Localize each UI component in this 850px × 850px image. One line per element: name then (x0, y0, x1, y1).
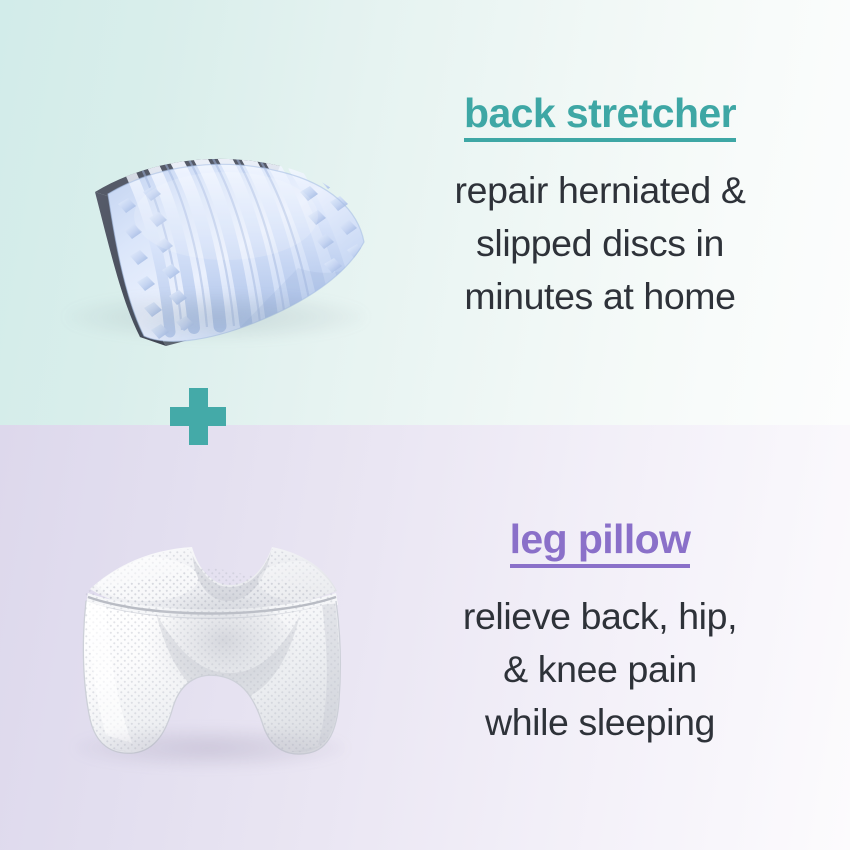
product-shadow (74, 727, 346, 769)
description-line-2: slipped discs in (400, 217, 800, 270)
back-stretcher-section: back stretcher repair herniated & slippe… (0, 0, 850, 425)
description-line-1: relieve back, hip, (400, 590, 800, 643)
product-shadow (66, 293, 366, 341)
back-stretcher-description: repair herniated & slipped discs in minu… (400, 164, 800, 323)
description-line-3: minutes at home (400, 270, 800, 323)
plus-icon (170, 388, 226, 445)
leg-pillow-headline: leg pillow (510, 518, 691, 568)
leg-pillow-product-image (60, 505, 360, 773)
back-stretcher-headline: back stretcher (464, 92, 736, 142)
description-line-1: repair herniated & (400, 164, 800, 217)
description-line-3: while sleeping (400, 696, 800, 749)
leg-pillow-section: leg pillow relieve back, hip, & knee pai… (0, 425, 850, 850)
plus-icon-vertical-bar (189, 388, 208, 445)
back-stretcher-product-image (48, 88, 378, 350)
leg-pillow-description: relieve back, hip, & knee pain while sle… (400, 590, 800, 749)
description-line-2: & knee pain (400, 643, 800, 696)
leg-pillow-copy: leg pillow relieve back, hip, & knee pai… (400, 518, 800, 749)
product-comparison-poster: back stretcher repair herniated & slippe… (0, 0, 850, 850)
back-stretcher-copy: back stretcher repair herniated & slippe… (400, 92, 800, 323)
